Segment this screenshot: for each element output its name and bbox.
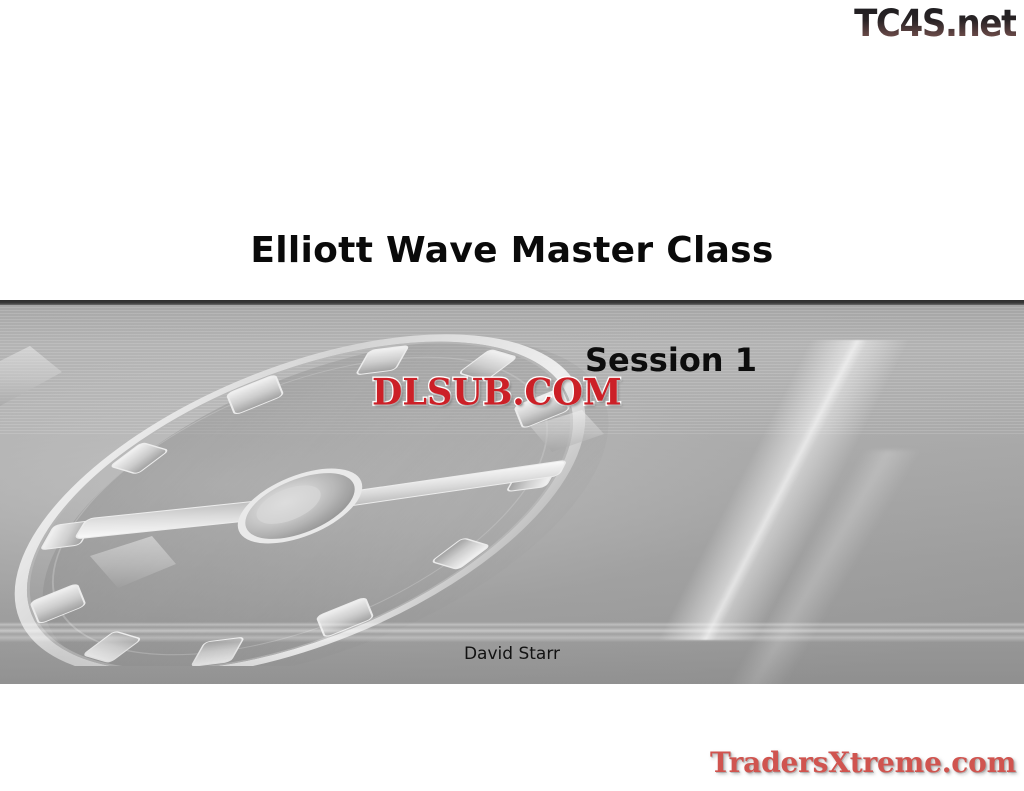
band-top-rule <box>0 300 1024 305</box>
brand-footer: TradersXtreme.com <box>710 745 1016 781</box>
site-logo: TC4S.net <box>854 2 1016 46</box>
dlsub-watermark-text: DLSUB.COM <box>372 371 622 414</box>
page-title: Elliott Wave Master Class <box>0 228 1024 274</box>
dlsub-watermark: DLSUB.COM <box>372 372 622 414</box>
presenter-name: David Starr <box>0 643 1024 665</box>
hero-image-band <box>0 300 1024 684</box>
slide-canvas: { "site_logo": { "text": "TC4S.net", "gr… <box>0 0 1024 791</box>
